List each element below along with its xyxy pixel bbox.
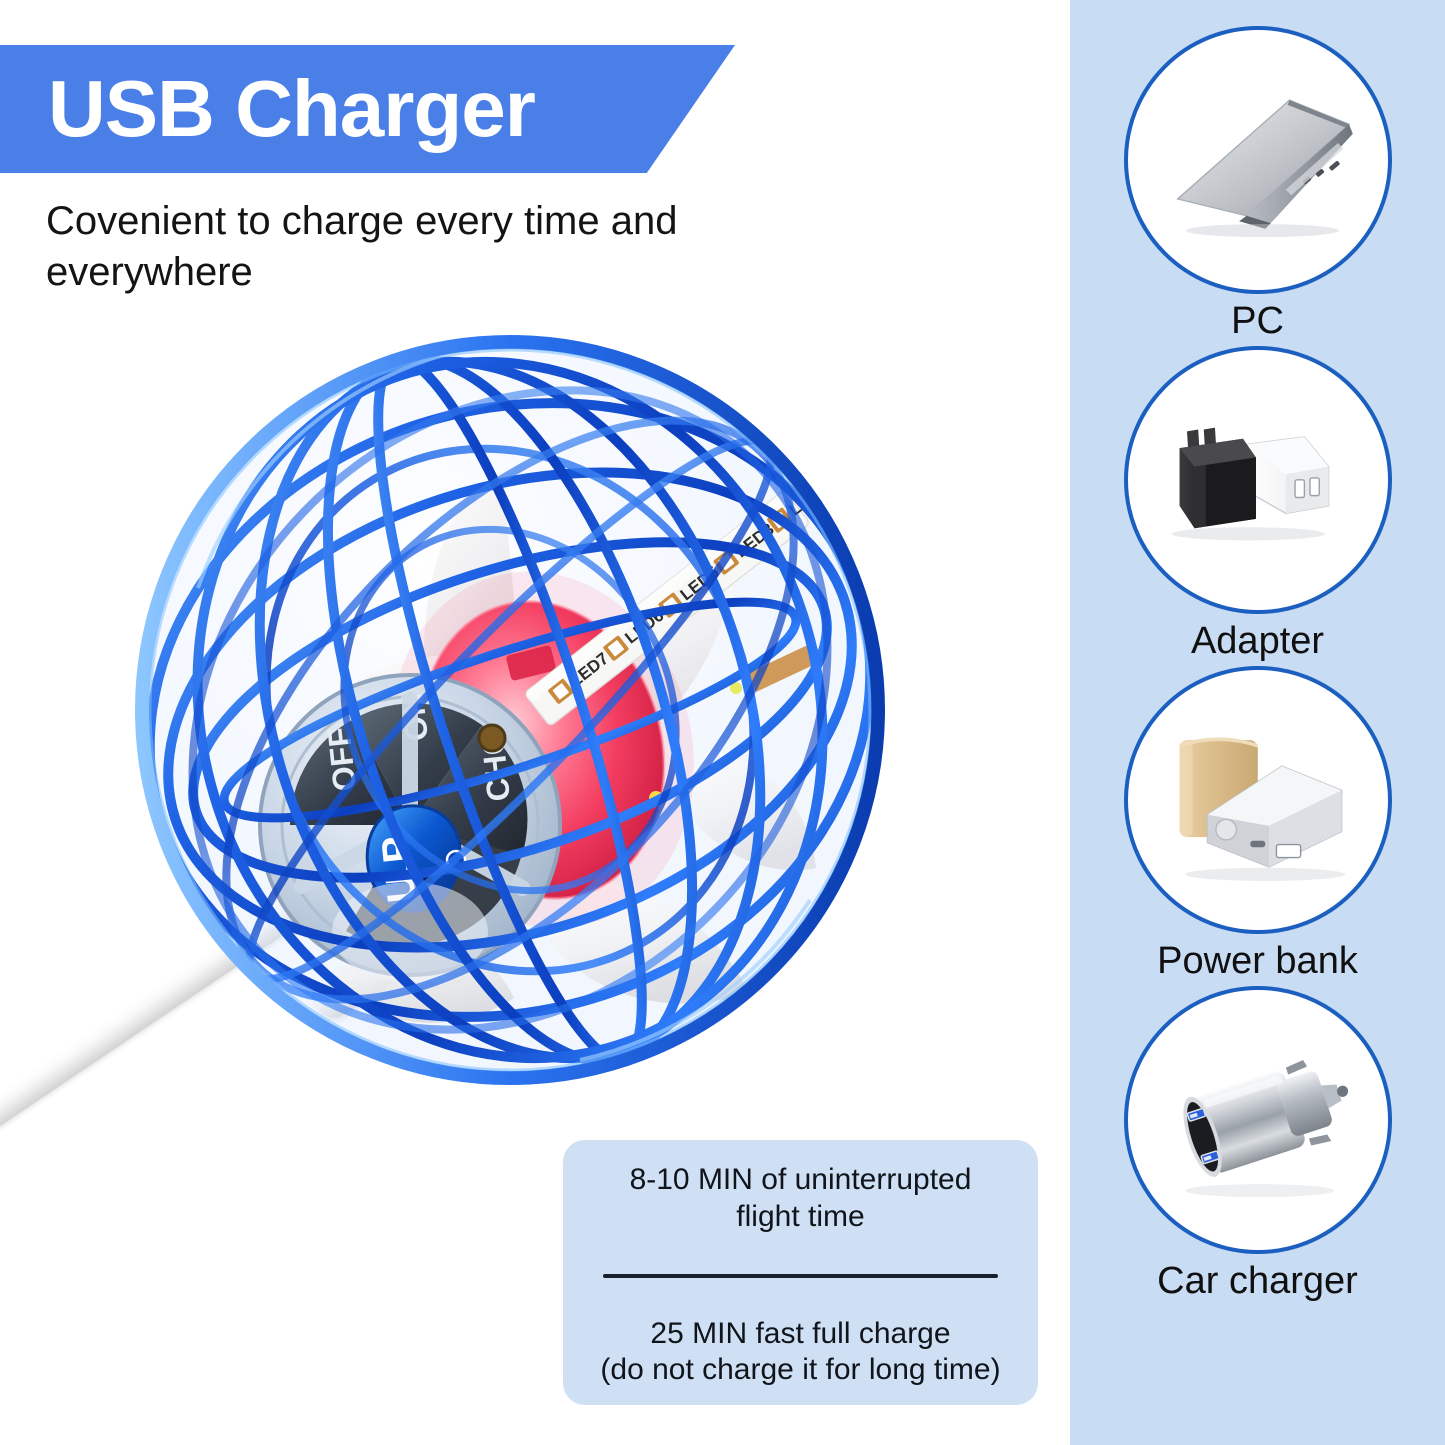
car-charger-circle-frame (1124, 986, 1392, 1254)
sidebar-item-adapter[interactable]: Adapter (1070, 346, 1445, 660)
power-bank-circle-frame (1124, 666, 1392, 934)
compatible-devices-sidebar: PC (1070, 0, 1445, 1445)
sidebar-label-car-charger: Car charger (1157, 1262, 1358, 1300)
info-divider (603, 1274, 998, 1278)
sidebar-label-adapter: Adapter (1191, 622, 1324, 660)
title-banner: USB Charger (0, 45, 735, 173)
sidebar-item-car-charger[interactable]: Car charger (1070, 986, 1445, 1300)
wall-adapter-icon (1146, 368, 1370, 592)
hub-screw (479, 725, 505, 751)
charge-time-line-2: (do not charge it for long time) (600, 1353, 1000, 1386)
white-adapter (1246, 437, 1328, 513)
power-bank-icon (1146, 688, 1370, 912)
subtitle-text: Covenient to charge every time and every… (46, 196, 726, 298)
sidebar-item-pc[interactable]: PC (1070, 26, 1445, 340)
flight-time-line-1: 8-10 MIN of uninterrupted (630, 1163, 972, 1196)
sidebar-label-power-bank: Power bank (1157, 942, 1358, 980)
flight-time-line-2: flight time (736, 1200, 864, 1233)
sidebar-label-pc: PC (1231, 302, 1284, 340)
charge-time-text: 25 MIN fast full charge (do not charge i… (581, 1316, 1020, 1389)
flight-time-text: 8-10 MIN of uninterrupted flight time (581, 1162, 1020, 1235)
black-adapter (1179, 428, 1255, 529)
car-charger-icon (1146, 1008, 1370, 1232)
laptop-icon (1146, 48, 1370, 272)
page-title: USB Charger (0, 69, 535, 149)
flying-orb-ball-product: LED7 LED6 LED5 LED3 LED2 (110, 320, 910, 1110)
sidebar-item-power-bank[interactable]: Power bank (1070, 666, 1445, 980)
specs-info-box: 8-10 MIN of uninterrupted flight time 25… (563, 1140, 1038, 1405)
pc-circle-frame (1124, 26, 1392, 294)
adapter-circle-frame (1124, 346, 1392, 614)
charge-time-line-1: 25 MIN fast full charge (650, 1317, 950, 1350)
